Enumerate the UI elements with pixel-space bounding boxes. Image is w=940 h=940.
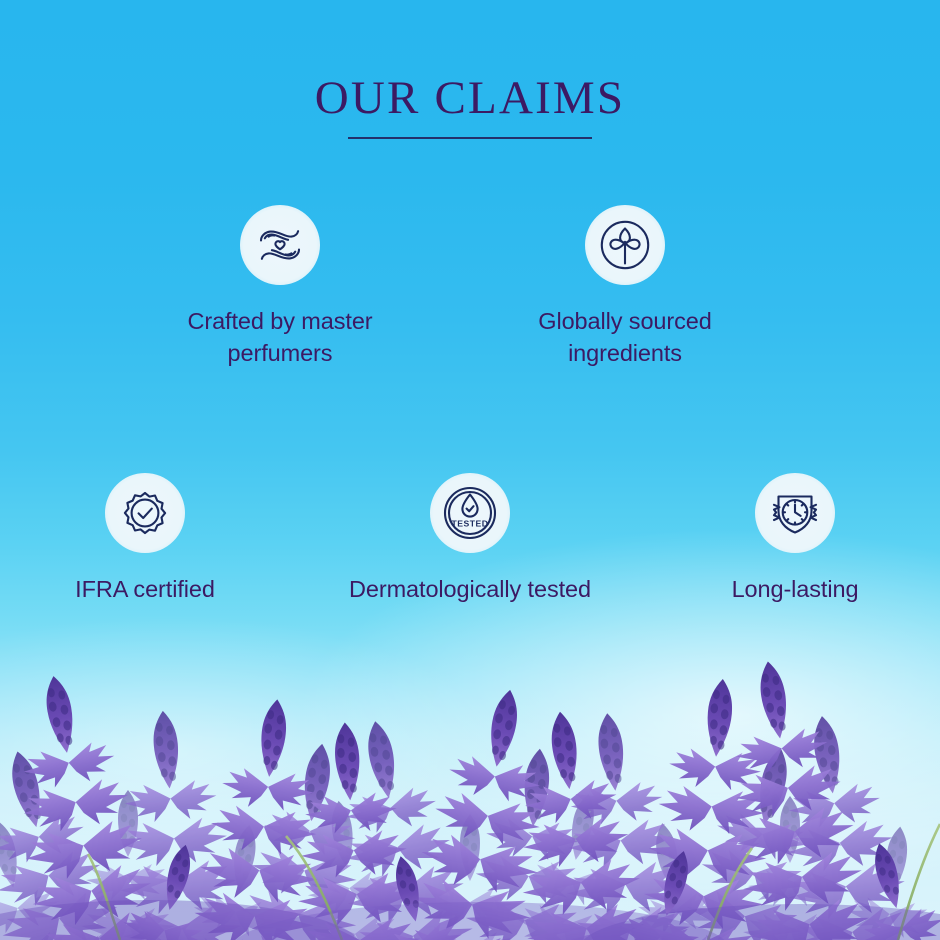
claim-item-ifra-certified: IFRA certified — [25, 473, 265, 605]
page-title: OUR CLAIMS — [0, 74, 940, 123]
lavender-flowers-illustration — [0, 610, 940, 940]
hands-holding-heart-icon — [249, 214, 311, 276]
tested-droplet-stamp-icon: TESTED — [439, 482, 501, 544]
claim-icon-badge — [585, 205, 665, 285]
claim-icon-badge — [105, 473, 185, 553]
claim-item-long-lasting: Long-lasting — [675, 473, 915, 605]
claim-label: IFRA certified — [25, 573, 265, 605]
claim-item-globally-sourced-ingredients: Globally sourced ingredients — [505, 205, 745, 370]
claim-label: Globally sourced ingredients — [505, 305, 745, 370]
title-underline-divider — [348, 137, 592, 139]
page-title-block: OUR CLAIMS — [0, 74, 940, 139]
claim-icon-badge — [240, 205, 320, 285]
claim-icon-badge — [755, 473, 835, 553]
claim-icon-badge: TESTED — [430, 473, 510, 553]
claim-label: Crafted by master perfumers — [160, 305, 400, 370]
claim-item-crafted-by-master-perfumers: Crafted by master perfumers — [160, 205, 400, 370]
plant-sprout-in-circle-icon — [595, 215, 655, 275]
claim-item-dermatologically-tested: TESTED Dermatologically tested — [310, 473, 630, 605]
rosette-checkmark-badge-icon — [114, 482, 176, 544]
tested-stamp-text: TESTED — [452, 518, 489, 528]
clock-shield-ribbon-icon — [764, 482, 826, 544]
claim-label: Long-lasting — [675, 573, 915, 605]
lavender-field-graphic — [0, 610, 940, 940]
claims-banner: OUR CLAIMS Crafted by master perfumers — [0, 0, 940, 940]
claim-label: Dermatologically tested — [310, 573, 630, 605]
